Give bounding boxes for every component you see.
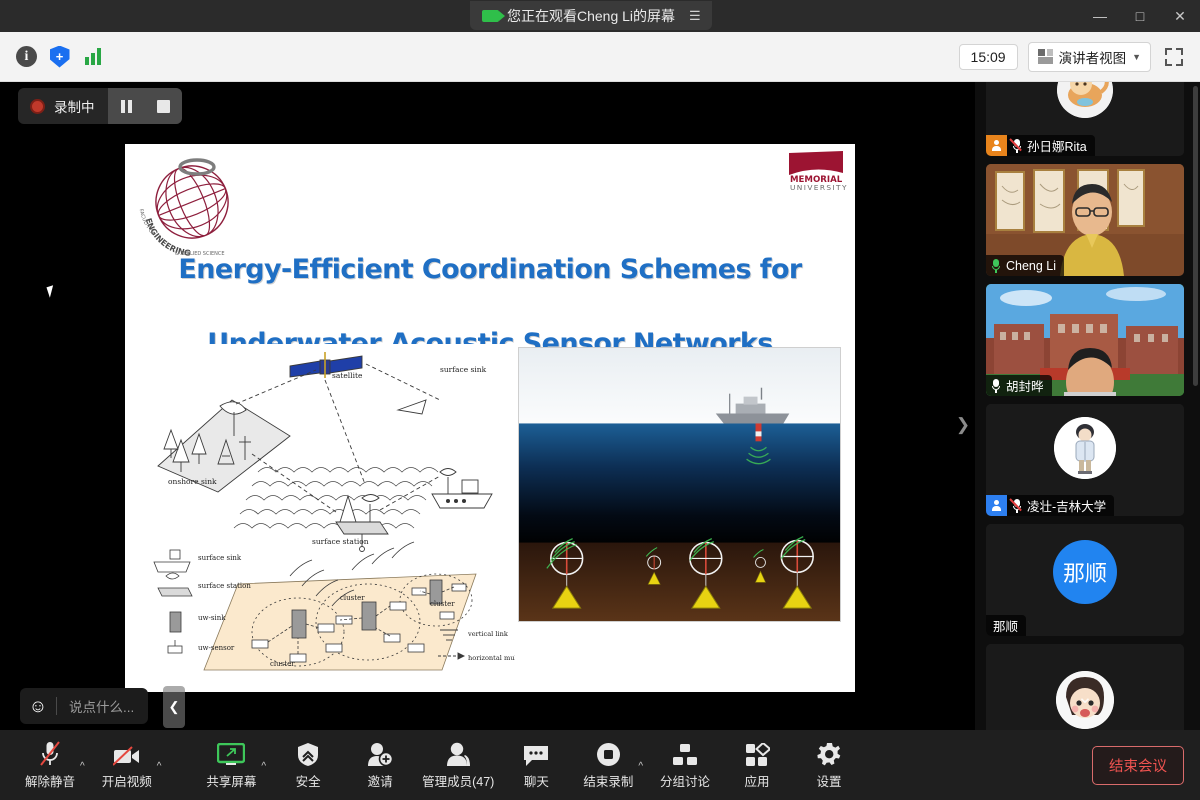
control-label: 结束录制: [583, 771, 633, 790]
control-label: 解除静音: [25, 771, 75, 790]
maximize-button[interactable]: □: [1120, 0, 1160, 32]
end-meeting-button[interactable]: 结束会议: [1092, 746, 1184, 785]
slide-title-line1: Energy-Efficient Coordination Schemes fo…: [178, 254, 801, 285]
camera-off-icon: [113, 740, 141, 767]
participant-name: 那顺: [986, 616, 1026, 635]
screen-share-icon: [482, 10, 499, 22]
close-button[interactable]: ✕: [1160, 0, 1200, 32]
recording-label: 录制中: [54, 96, 95, 116]
audio-options-caret[interactable]: ^: [80, 761, 85, 772]
manage-participants-button[interactable]: 管理成员(47): [416, 734, 500, 796]
stop-recording-icon: [596, 740, 621, 767]
fullscreen-icon: [1165, 48, 1183, 66]
participant-tile-active-speaker[interactable]: 胡封晔: [986, 284, 1184, 396]
label-surface-station: surface station: [312, 537, 369, 546]
fullscreen-button[interactable]: [1161, 44, 1186, 69]
meeting-info-button[interactable]: i: [14, 44, 39, 69]
unmute-button[interactable]: 解除静音: [14, 734, 86, 796]
breakout-rooms-icon: [672, 740, 698, 767]
label-cluster-1: cluster: [270, 660, 295, 668]
secondary-toolbar: i + 15:09 演讲者视图 ▼: [0, 32, 1200, 82]
participant-tile-partial[interactable]: ⌄: [986, 644, 1184, 730]
minimize-button[interactable]: —: [1080, 0, 1120, 32]
controls-group: 解除静音 ^ 开启视频 ^: [0, 734, 865, 796]
invite-person-icon: [367, 740, 393, 767]
participant-tile[interactable]: Cheng Li: [986, 164, 1184, 276]
chat-bubble-icon: [523, 740, 549, 767]
apps-button[interactable]: 应用: [721, 734, 793, 796]
participant-name-bar: 凌壮-吉林大学: [986, 495, 1114, 516]
label-cluster-2: cluster: [340, 594, 365, 602]
legend-uw-sensor: uw-sensor: [198, 644, 235, 652]
microphone-active-icon: [986, 259, 1006, 273]
shield-plus-icon: +: [50, 46, 70, 68]
settings-button[interactable]: 设置: [793, 734, 865, 796]
hamburger-menu-icon[interactable]: ☰: [689, 9, 700, 22]
stop-recording-button[interactable]: [145, 88, 182, 124]
participant-badge: [986, 495, 1007, 516]
legend-surface-station: surface station: [198, 582, 251, 590]
control-label: 设置: [817, 771, 842, 790]
stop-recording-control-button[interactable]: 结束录制: [572, 734, 644, 796]
label-surface-sink: surface sink: [440, 365, 487, 374]
pause-recording-button[interactable]: [108, 88, 145, 124]
legend-horizontal-link: horizontal multi-hop link: [468, 654, 515, 662]
microphone-muted-icon: [39, 740, 61, 767]
participant-name: 胡封晔: [1006, 376, 1052, 395]
participant-name-bar: 胡封晔: [986, 375, 1052, 396]
label-satellite: satellite: [332, 371, 363, 380]
chat-button[interactable]: 聊天: [500, 734, 572, 796]
control-label: 管理成员(47): [422, 771, 494, 790]
label-onshore-sink: onshore sink: [168, 477, 217, 486]
chevron-down-icon[interactable]: ⌄: [1077, 686, 1093, 709]
meeting-controls-toolbar: 解除静音 ^ 开启视频 ^: [0, 730, 1200, 800]
anime-person-avatar: [1054, 417, 1116, 479]
microphone-muted-icon: [1007, 139, 1027, 153]
control-label: 邀请: [368, 771, 393, 790]
participant-name: 孙日娜Rita: [1027, 136, 1095, 155]
gear-icon: [817, 740, 842, 767]
signal-bars-icon: [85, 48, 101, 65]
info-icon: i: [16, 46, 37, 67]
participant-name: 凌壮-吉林大学: [1027, 496, 1114, 515]
toolbar-right-group: 15:09 演讲者视图 ▼: [959, 42, 1200, 72]
share-screen-button[interactable]: 共享屏幕: [195, 734, 267, 796]
participant-name-bar: Cheng Li: [986, 255, 1064, 276]
smiley-face-icon[interactable]: ☺: [20, 688, 56, 724]
chevron-right-icon[interactable]: ❯: [954, 408, 972, 442]
label-cluster-3: cluster: [430, 600, 455, 608]
microphone-active-icon: [986, 379, 1006, 393]
share-banner-text: 您正在观看Cheng Li的屏幕: [507, 6, 675, 26]
legend-vertical-link: vertical link: [467, 630, 509, 638]
legend-uw-sink: uw-sink: [198, 614, 226, 622]
apps-icon: [745, 740, 770, 767]
participant-thumbnail-panel[interactable]: 孙日娜Rita: [975, 82, 1200, 730]
view-mode-label: 演讲者视图: [1059, 47, 1127, 67]
mouse-cursor: [46, 285, 56, 298]
invite-button[interactable]: 邀请: [344, 734, 416, 796]
participant-name: Cheng Li: [1006, 259, 1064, 273]
meeting-clock: 15:09: [959, 44, 1018, 70]
network-topology-figure: satellite surface sink onshore sink surf…: [140, 344, 515, 679]
initials-avatar: 那顺: [1053, 540, 1117, 604]
shared-screen-stage[interactable]: ENGINEERING FACULTY OF & APPLIED SCIENCE…: [0, 82, 975, 730]
legend-surface-sink: surface sink: [198, 554, 242, 562]
toolbar-left-group: i +: [0, 44, 105, 69]
chevron-down-icon: ▼: [1132, 52, 1141, 62]
share-screen-icon: [217, 740, 245, 767]
participant-tile[interactable]: 那顺 那顺: [986, 524, 1184, 636]
participant-tile[interactable]: 凌壮-吉林大学: [986, 404, 1184, 516]
participant-name-bar: 孙日娜Rita: [986, 135, 1095, 156]
floating-chat-bar[interactable]: ☺ 说点什么...: [20, 688, 148, 724]
security-control-button[interactable]: 安全: [272, 734, 344, 796]
participant-tile[interactable]: 孙日娜Rita: [986, 82, 1184, 156]
faculty-of-engineering-logo: ENGINEERING FACULTY OF & APPLIED SCIENCE: [135, 150, 250, 260]
breakout-rooms-button[interactable]: 分组讨论: [649, 734, 721, 796]
host-badge: [986, 135, 1007, 156]
avatar-initials: 那顺: [1063, 556, 1107, 588]
screen-share-banner[interactable]: 您正在观看Cheng Li的屏幕 ☰: [470, 1, 712, 30]
security-button[interactable]: +: [47, 44, 72, 69]
presentation-slide: ENGINEERING FACULTY OF & APPLIED SCIENCE…: [125, 144, 855, 692]
shield-icon: [297, 740, 319, 767]
control-label: 共享屏幕: [206, 771, 256, 790]
pause-icon: [121, 100, 132, 113]
microphone-muted-icon: [1007, 499, 1027, 513]
control-label: 聊天: [524, 771, 549, 790]
recording-status: 录制中: [18, 96, 108, 116]
mun-line2: UNIVERSITY: [790, 183, 847, 191]
control-label: 应用: [745, 771, 770, 790]
zoom-meeting-window: 您正在观看Cheng Li的屏幕 ☰ — □ ✕ i + 15:09 演讲者视: [0, 0, 1200, 800]
view-mode-selector[interactable]: 演讲者视图 ▼: [1028, 42, 1151, 72]
video-options-caret[interactable]: ^: [157, 761, 162, 772]
panel-scrollbar[interactable]: [1193, 86, 1198, 386]
participants-icon: [445, 740, 471, 767]
control-label: 分组讨论: [660, 771, 710, 790]
control-label: 安全: [296, 771, 321, 790]
record-dot-icon: [30, 99, 45, 114]
title-bar: 您正在观看Cheng Li的屏幕 ☰ — □ ✕: [0, 0, 1200, 32]
window-controls: — □ ✕: [1080, 0, 1200, 32]
stop-icon: [157, 100, 170, 113]
share-options-caret[interactable]: ^: [261, 761, 266, 772]
recording-widget: 录制中: [18, 88, 182, 124]
layout-icon: [1038, 49, 1053, 64]
chevron-left-icon[interactable]: ❮: [163, 686, 185, 728]
underwater-network-image: [518, 347, 841, 622]
network-status-button[interactable]: [80, 44, 105, 69]
start-video-button[interactable]: 开启视频: [91, 734, 163, 796]
memorial-university-logo: MEMORIAL UNIVERSITY: [785, 149, 847, 191]
chat-input-placeholder[interactable]: 说点什么...: [57, 696, 148, 716]
recording-options-caret[interactable]: ^: [638, 761, 643, 772]
participant-name-bar: 那顺: [986, 615, 1026, 636]
control-label: 开启视频: [102, 771, 152, 790]
